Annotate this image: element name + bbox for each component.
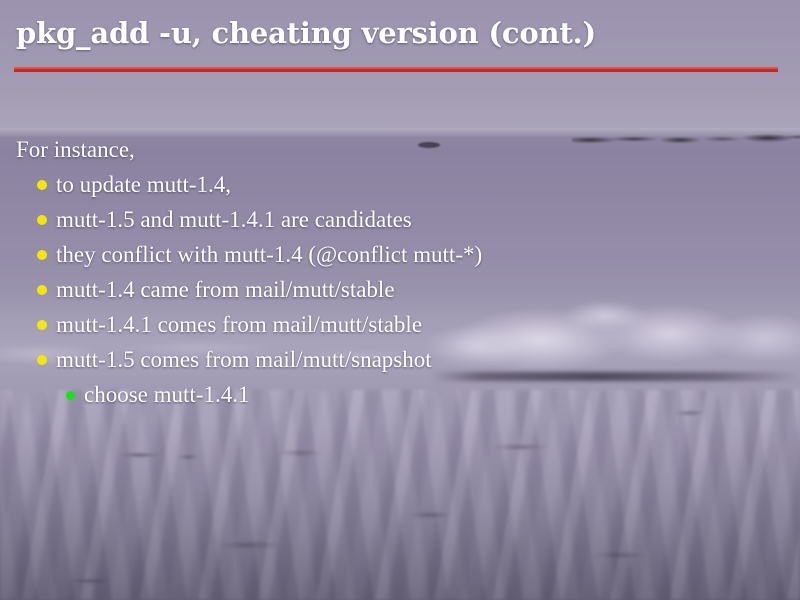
bullet-line: mutt-1.4.1 comes from mail/mutt/stable	[0, 307, 800, 342]
bullet-line: For instance,	[0, 132, 800, 167]
yellow-bullet-icon	[37, 215, 47, 225]
bullet-line-text: For instance,	[16, 137, 135, 162]
yellow-bullet-icon	[37, 285, 47, 295]
bullet-line-text: they conflict with mutt-1.4 (@conflict m…	[56, 242, 482, 267]
bullet-line-text: mutt-1.5 comes from mail/mutt/snapshot	[56, 347, 432, 372]
green-bullet-icon	[66, 391, 75, 400]
yellow-bullet-icon	[37, 250, 47, 260]
bullet-line: to update mutt-1.4,	[0, 167, 800, 202]
bullet-line: mutt-1.5 and mutt-1.4.1 are candidates	[0, 202, 800, 237]
yellow-bullet-icon	[37, 355, 47, 365]
bullet-line: mutt-1.5 comes from mail/mutt/snapshot	[0, 342, 800, 377]
presentation-slide: pkg_add -u, cheating version (cont.) For…	[0, 0, 800, 600]
yellow-bullet-icon	[37, 320, 47, 330]
title-underline-rule	[14, 67, 778, 72]
bullet-line-text: mutt-1.5 and mutt-1.4.1 are candidates	[56, 207, 412, 232]
bullet-line-text: mutt-1.4.1 comes from mail/mutt/stable	[56, 312, 422, 337]
slide-bullet-list: For instance,to update mutt-1.4,mutt-1.5…	[0, 132, 800, 412]
bullet-line: mutt-1.4 came from mail/mutt/stable	[0, 272, 800, 307]
bullet-line-text: choose mutt-1.4.1	[84, 382, 249, 407]
slide-title: pkg_add -u, cheating version (cont.)	[16, 19, 596, 48]
bullet-line: they conflict with mutt-1.4 (@conflict m…	[0, 237, 800, 272]
yellow-bullet-icon	[37, 180, 47, 190]
bullet-line-text: to update mutt-1.4,	[56, 172, 231, 197]
bullet-line: choose mutt-1.4.1	[0, 377, 800, 412]
bullet-line-text: mutt-1.4 came from mail/mutt/stable	[56, 277, 395, 302]
slide-content: pkg_add -u, cheating version (cont.) For…	[0, 0, 800, 600]
